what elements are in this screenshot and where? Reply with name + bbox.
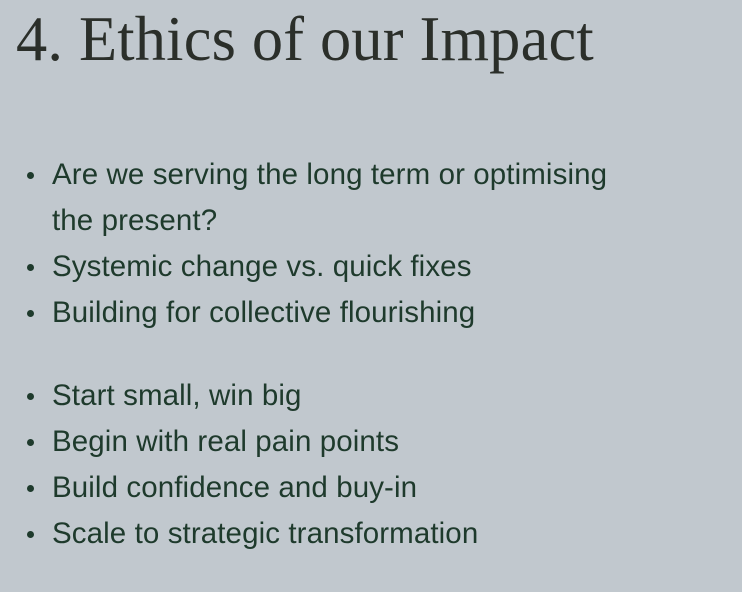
bullet-dot-icon (27, 439, 34, 446)
list-item: Building for collective flourishing (0, 290, 652, 336)
bullet-group-ethics-questions: Are we serving the long term or optimisi… (0, 152, 742, 336)
list-item-label: Are we serving the long term or optimisi… (52, 152, 652, 244)
bullet-dot-icon (27, 172, 34, 179)
bullet-dot-icon (27, 393, 34, 400)
list-item: Are we serving the long term or optimisi… (0, 152, 652, 244)
list-item: Start small, win big (0, 373, 652, 419)
bullet-dot-icon (27, 531, 34, 538)
presentation-slide: 4. Ethics of our Impact Are we serving t… (0, 0, 742, 592)
list-item: Systemic change vs. quick fixes (0, 244, 652, 290)
list-item-label: Systemic change vs. quick fixes (52, 244, 652, 290)
bullet-dot-icon (27, 264, 34, 271)
list-item-label: Build confidence and buy-in (52, 465, 652, 511)
list-item-label: Start small, win big (52, 373, 652, 419)
list-item: Scale to strategic transformation (0, 511, 652, 557)
list-item: Build confidence and buy-in (0, 465, 652, 511)
bullet-dot-icon (27, 485, 34, 492)
bullet-group-adoption-path: Start small, win big Begin with real pai… (0, 373, 742, 557)
list-item-label: Scale to strategic transformation (52, 511, 652, 557)
list-item-label: Building for collective flourishing (52, 290, 652, 336)
bullet-dot-icon (27, 310, 34, 317)
page-title: 4. Ethics of our Impact (16, 2, 725, 76)
list-item: Begin with real pain points (0, 419, 652, 465)
slide-body: Are we serving the long term or optimisi… (0, 152, 742, 557)
list-item-label: Begin with real pain points (52, 419, 652, 465)
